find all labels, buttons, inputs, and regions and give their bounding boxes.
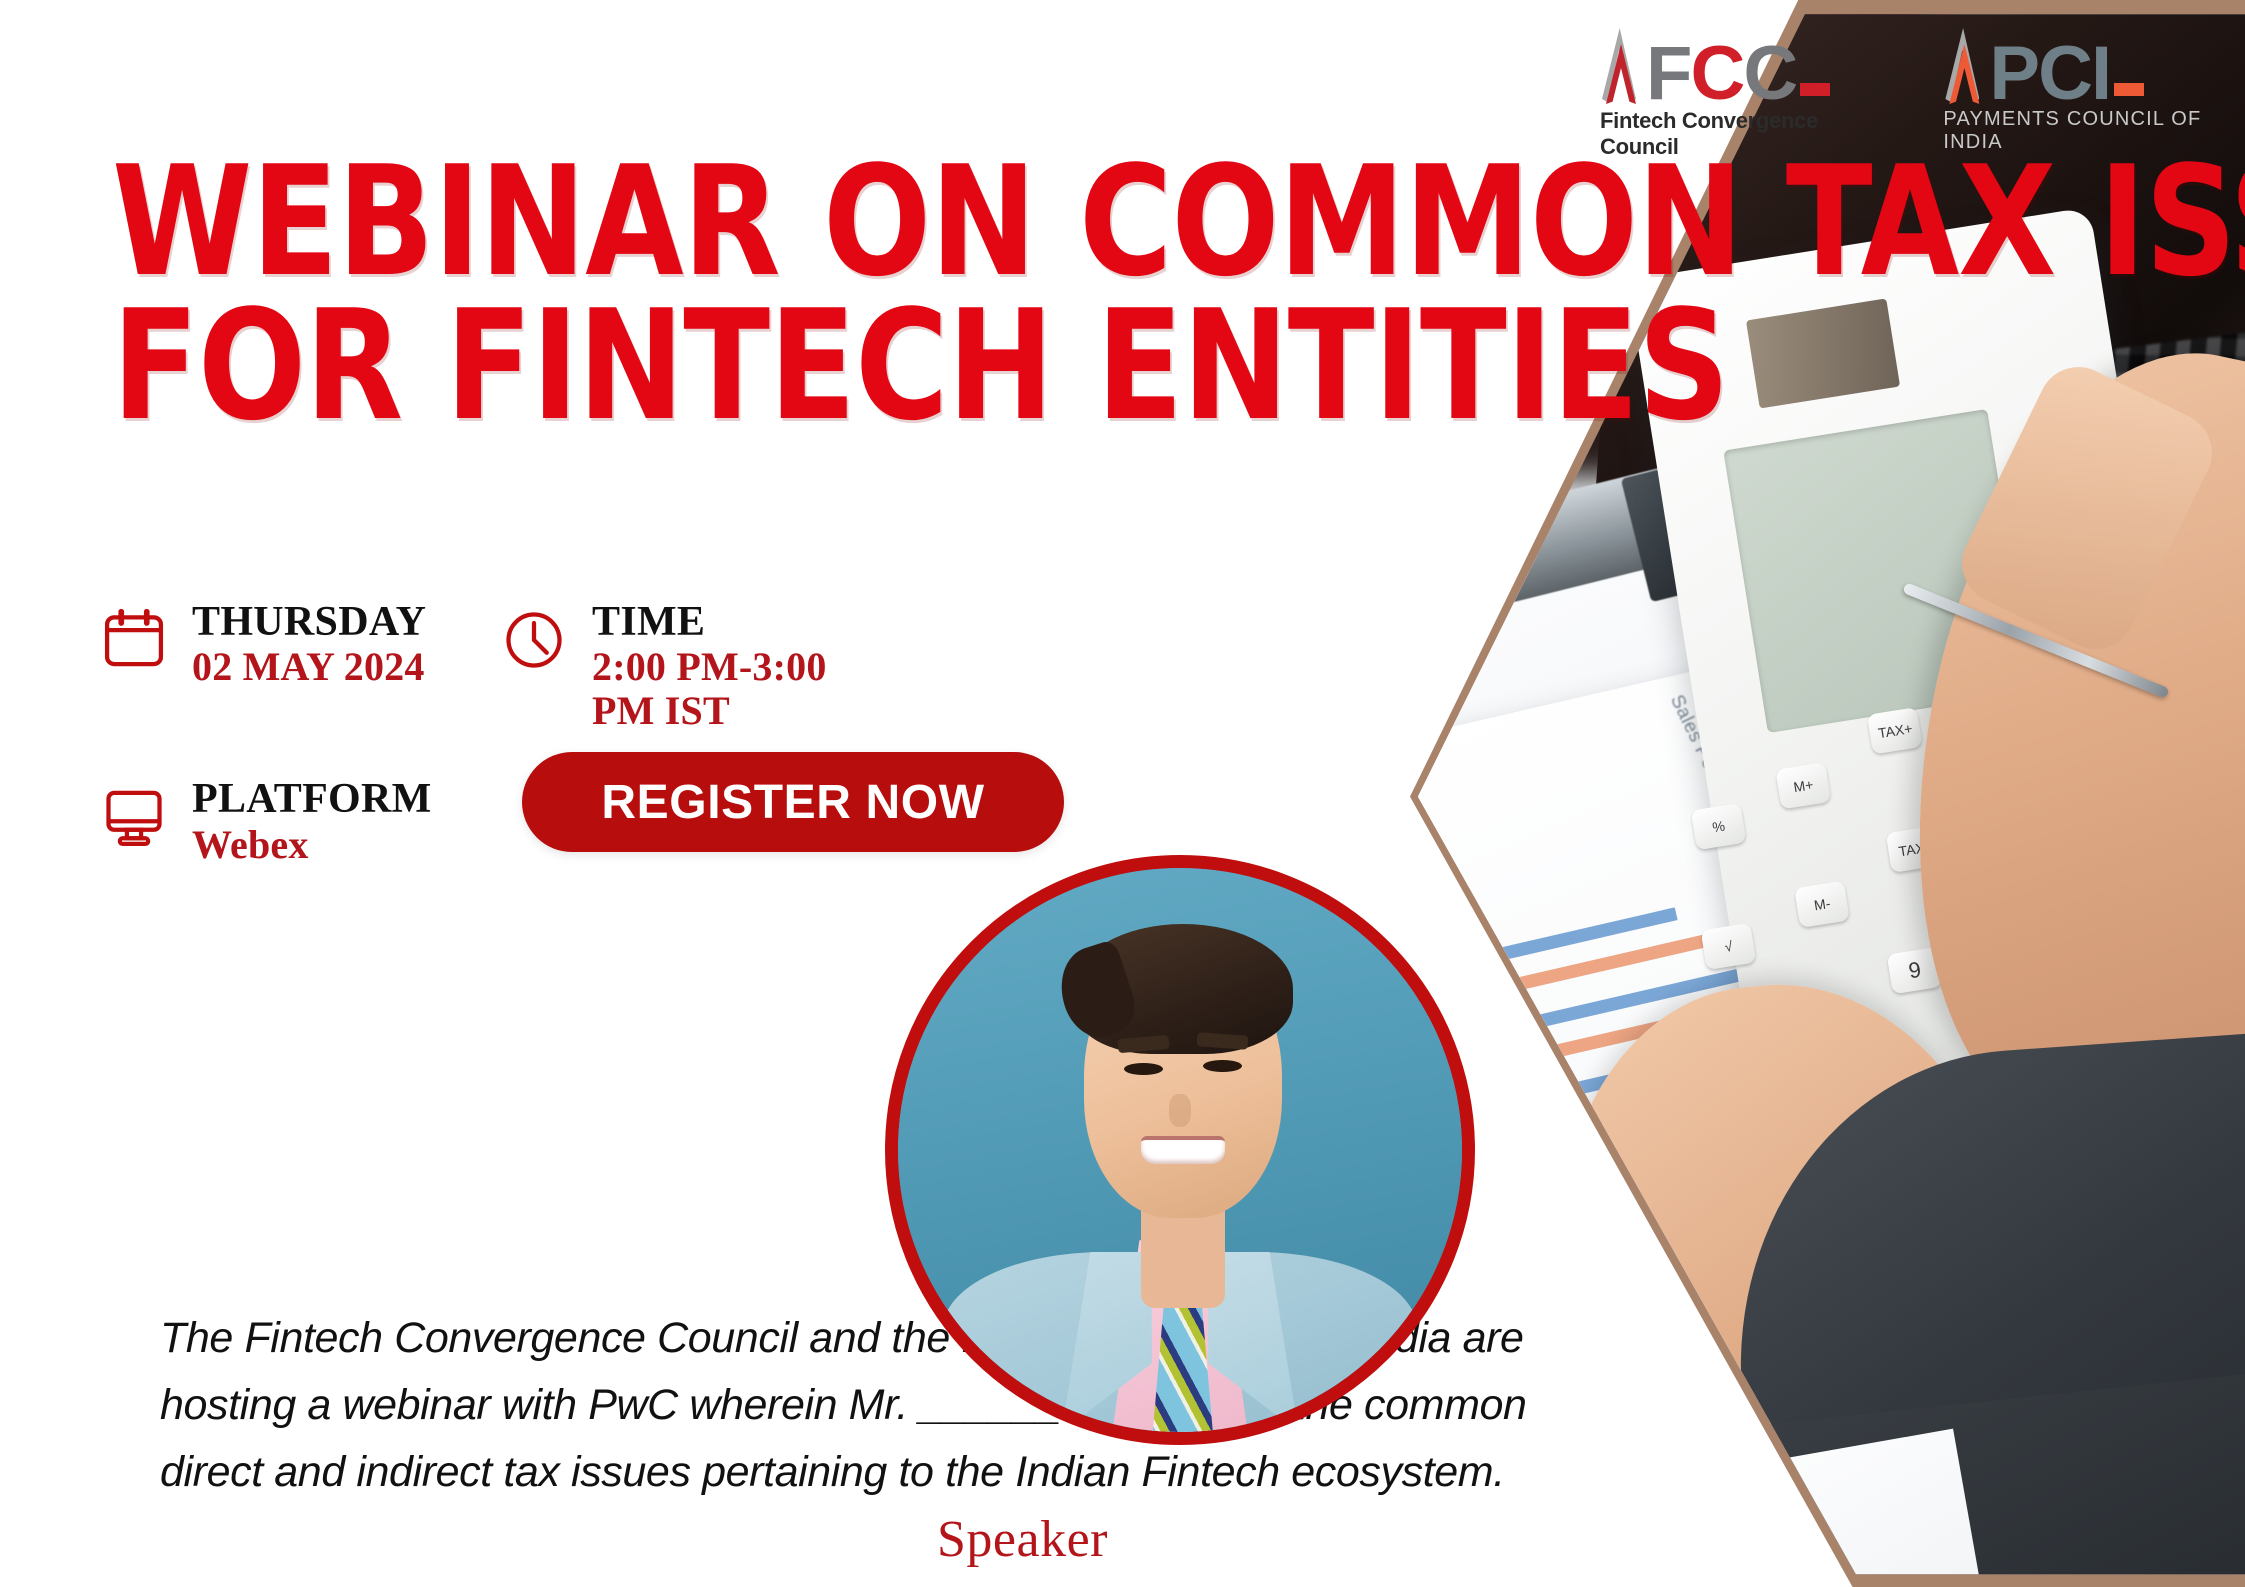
logo-bar: FCC Fintech Convergence Council PCI PAYM… <box>1600 28 2245 160</box>
platform-value: Webex <box>192 823 432 867</box>
detail-time: TIME 2:00 PM-3:00 PM IST <box>500 600 930 733</box>
speaker-portrait <box>885 855 1475 1445</box>
fcc-tagline: Fintech Convergence Council <box>1600 108 1881 160</box>
pci-underscore-icon <box>2114 83 2144 96</box>
date-value: 02 MAY 2024 <box>192 645 426 689</box>
date-label: THURSDAY <box>192 600 426 645</box>
pci-letter-2: C <box>2038 41 2091 106</box>
swoosh-icon <box>1943 28 1987 106</box>
detail-platform: PLATFORM Webex <box>100 777 500 866</box>
fcc-letter-2: C <box>1690 41 1743 106</box>
pci-letter-1: P <box>1989 41 2038 106</box>
register-now-button[interactable]: REGISTER NOW <box>522 752 1064 852</box>
fcc-letter-3: C <box>1743 41 1796 106</box>
title-line-2: FOR FINTECH ENTITIES <box>112 294 2245 438</box>
calendar-icon <box>100 606 168 674</box>
pci-letter-3: I <box>2091 41 2110 106</box>
swoosh-icon <box>1600 28 1644 106</box>
page-title: WEBINAR ON COMMON TAX ISSUES FOR FINTECH… <box>112 150 2245 439</box>
detail-date: THURSDAY 02 MAY 2024 <box>100 600 500 689</box>
fcc-letter-1: F <box>1646 41 1690 106</box>
clock-icon <box>500 606 568 674</box>
pci-tagline: PAYMENTS COUNCIL OF INDIA <box>1943 108 2245 154</box>
monitor-icon <box>100 783 168 851</box>
title-line-1: WEBINAR ON COMMON TAX ISSUES <box>112 150 2245 294</box>
speaker-caption: Speaker <box>0 1510 2245 1569</box>
time-value: 2:00 PM-3:00 PM IST <box>592 645 892 733</box>
webinar-poster: Sales Performance 0 50000 100000 150000 … <box>0 0 2245 1587</box>
fcc-underscore-icon <box>1800 83 1830 96</box>
platform-label: PLATFORM <box>192 777 432 822</box>
pci-logo: PCI PAYMENTS COUNCIL OF INDIA <box>1943 28 2245 154</box>
time-label: TIME <box>592 600 892 645</box>
fcc-logo: FCC Fintech Convergence Council <box>1600 28 1881 160</box>
